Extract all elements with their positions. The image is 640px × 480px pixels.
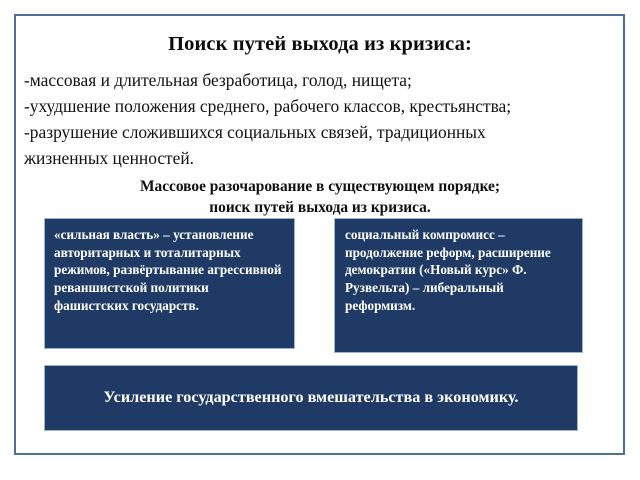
option-box-strong-power: «сильная власть» – установление авторита… <box>44 218 295 349</box>
option-box-social-compromise: социальный компромисс – продолжение рефо… <box>334 218 583 353</box>
conclusion-box-state-intervention: Усиление государственного вмешательства … <box>44 365 578 431</box>
bullet-line-4: жизненных ценностей. <box>24 146 624 172</box>
subheading-line-1: Массовое разочарование в существующем по… <box>60 176 580 197</box>
bullet-line-3: -разрушение сложившихся социальных связе… <box>24 120 624 146</box>
bullet-line-1: -массовая и длительная безработица, голо… <box>24 68 624 94</box>
page-title: Поиск путей выхода из кризиса: <box>28 33 612 57</box>
conclusion-box-label: Усиление государственного вмешательства … <box>71 387 551 408</box>
slide-canvas: Поиск путей выхода из кризиса: -массовая… <box>0 0 640 480</box>
bullet-list: -массовая и длительная безработица, голо… <box>24 68 624 172</box>
bullet-line-2: -ухудшение положения среднего, рабочего … <box>24 94 624 120</box>
subheading-line-2: поиск путей выхода из кризиса. <box>60 197 580 218</box>
section-subheading: Массовое разочарование в существующем по… <box>60 176 580 219</box>
